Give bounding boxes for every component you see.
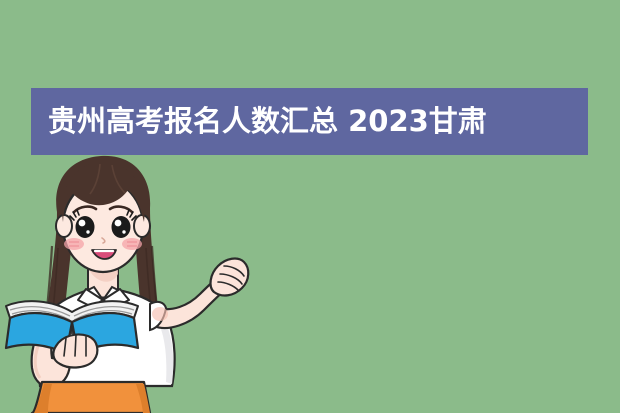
right-hand-open-palm — [211, 259, 249, 296]
page-title: 贵州高考报名人数汇总 2023甘肃 — [48, 107, 487, 136]
illustration-student-girl — [0, 150, 260, 413]
title-banner: 贵州高考报名人数汇总 2023甘肃 — [31, 88, 588, 155]
screenshot-canvas: 贵州高考报名人数汇总 2023甘肃 — [0, 0, 620, 413]
skirt-orange — [32, 382, 150, 413]
